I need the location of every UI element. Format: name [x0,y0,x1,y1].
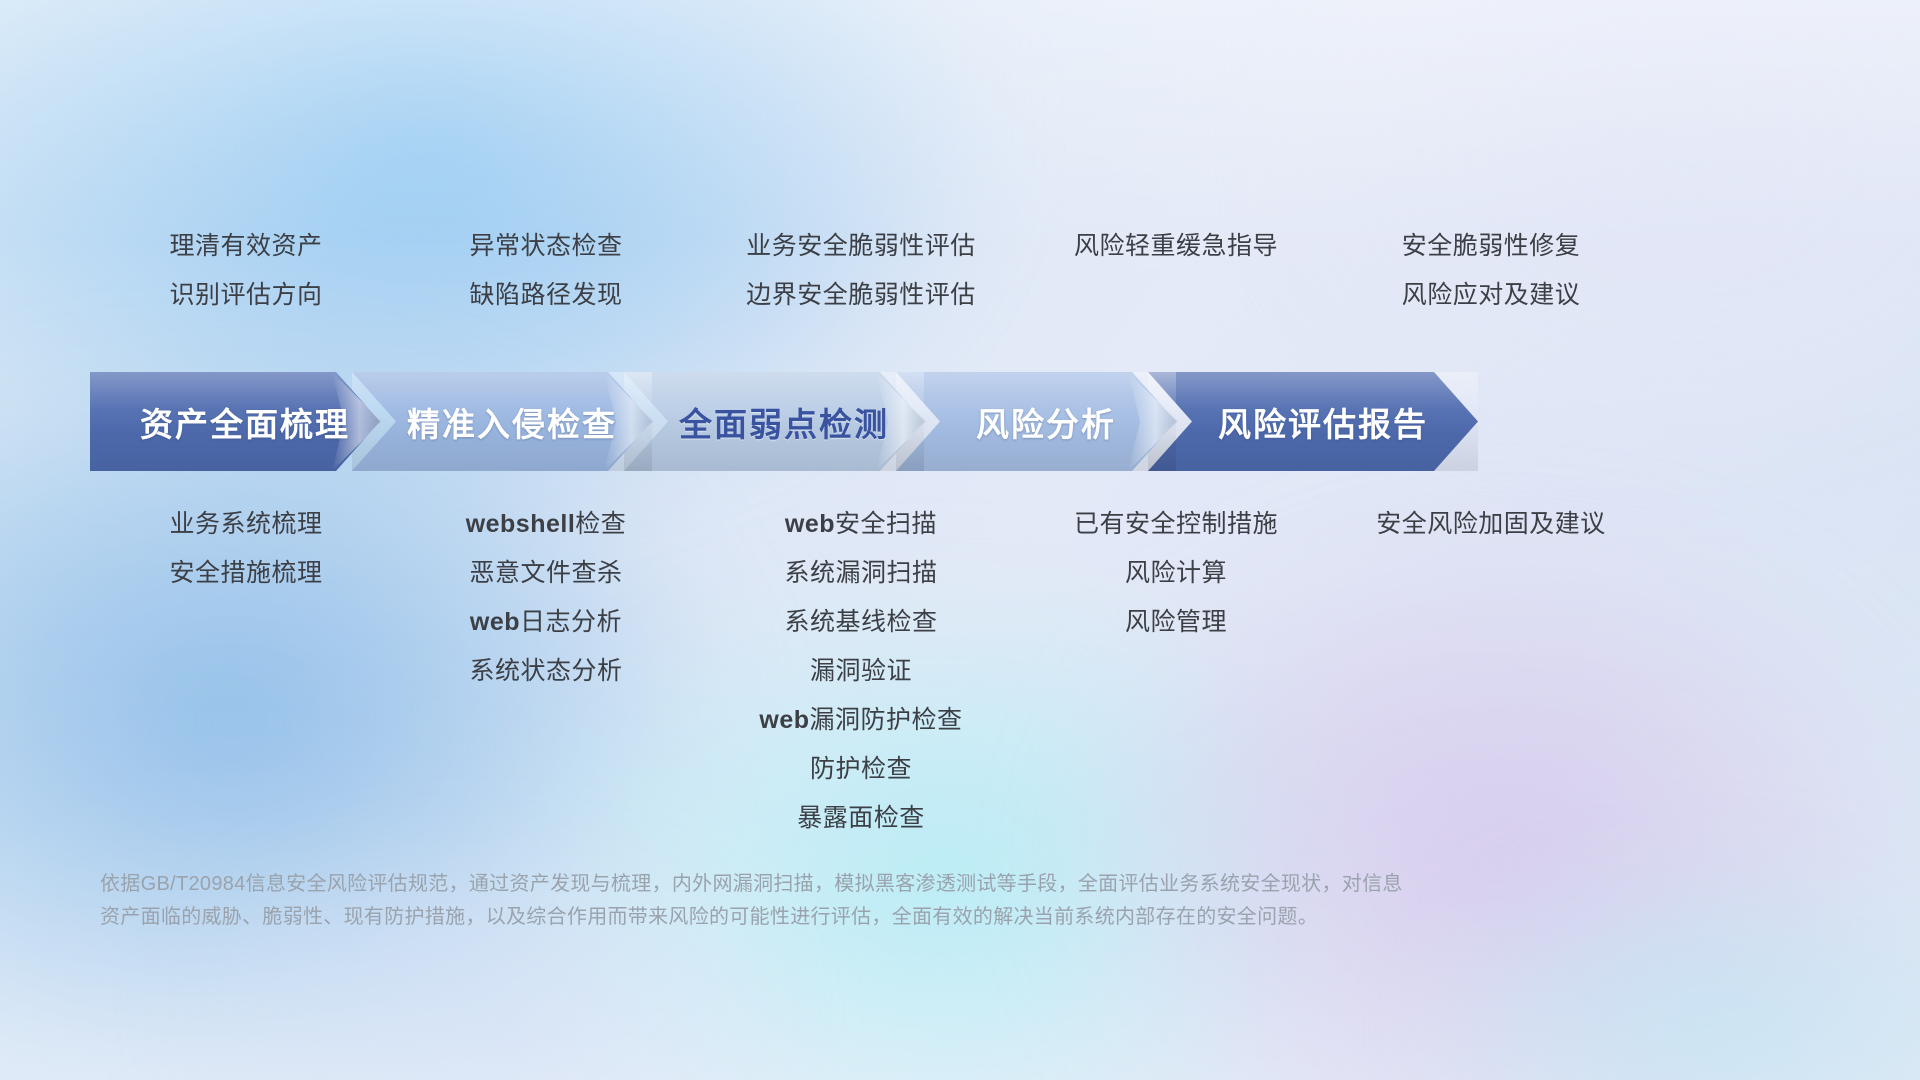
detail-list-intrusion-check: webshell检查恶意文件查杀web日志分析系统状态分析 [396,500,696,696]
detail-list-risk-report: 安全风险加固及建议 [1326,500,1656,549]
detail-item: 已有安全控制措施 [1074,500,1278,549]
chevron-risk-analysis[interactable]: 风险分析 [896,372,1176,471]
chevron-label: 全面弱点检测 [624,398,924,446]
detail-list-risk-analysis: 已有安全控制措施风险计算风险管理 [1026,500,1326,647]
chevron-weakness-detection[interactable]: 全面弱点检测 [624,372,924,471]
top-notes-risk-analysis: 风险轻重缓急指导 [1026,222,1326,320]
detail-item: 安全措施梳理 [169,549,322,598]
top-note: 风险应对及建议 [1402,271,1581,320]
top-note: 缺陷路径发现 [469,271,622,320]
process-infographic: 理清有效资产识别评估方向异常状态检查缺陷路径发现业务安全脆弱性评估边界安全脆弱性… [0,0,1920,1080]
top-note: 异常状态检查 [469,222,622,271]
top-note: 边界安全脆弱性评估 [746,271,976,320]
detail-item: web漏洞防护检查 [759,696,962,745]
top-note: 业务安全脆弱性评估 [746,222,976,271]
top-note: 识别评估方向 [169,271,322,320]
footer-line-1: 依据GB/T20984信息安全风险评估规范，通过资产发现与梳理，内外网漏洞扫描，… [100,868,1610,901]
detail-item: web安全扫描 [785,500,937,549]
detail-item: 系统状态分析 [469,647,622,696]
detail-item: 漏洞验证 [810,647,912,696]
detail-item: webshell检查 [466,500,627,549]
top-notes-intrusion-check: 异常状态检查缺陷路径发现 [396,222,696,320]
top-notes-asset-inventory: 理清有效资产识别评估方向 [96,222,396,320]
chevron-asset-inventory[interactable]: 资产全面梳理 [90,372,380,471]
stage-top-notes-row: 理清有效资产识别评估方向异常状态检查缺陷路径发现业务安全脆弱性评估边界安全脆弱性… [96,222,1860,320]
top-note: 风险轻重缓急指导 [1074,222,1278,271]
detail-list-weakness-detection: web安全扫描系统漏洞扫描系统基线检查漏洞验证web漏洞防护检查防护检查暴露面检… [696,500,1026,843]
chevron-label: 精准入侵检查 [352,398,652,446]
detail-item: web日志分析 [470,598,622,647]
top-note: 安全脆弱性修复 [1402,222,1581,271]
detail-item: 业务系统梳理 [169,500,322,549]
detail-item: 系统基线检查 [784,598,937,647]
chevron-intrusion-check[interactable]: 精准入侵检查 [352,372,652,471]
process-chevron-band: 资产全面梳理精准入侵检查全面弱点检测风险分析风险评估报告 [90,372,1892,471]
top-note: 理清有效资产 [169,222,322,271]
footer-line-2: 资产面临的威胁、脆弱性、现有防护措施，以及综合作用而带来风险的可能性进行评估，全… [100,901,1610,934]
chevron-label: 资产全面梳理 [90,398,380,446]
detail-item: 安全风险加固及建议 [1376,500,1606,549]
stage-detail-lists-row: 业务系统梳理安全措施梳理webshell检查恶意文件查杀web日志分析系统状态分… [96,500,1860,843]
detail-item: 防护检查 [810,745,912,794]
detail-item: 风险管理 [1125,598,1227,647]
detail-item: 风险计算 [1125,549,1227,598]
top-notes-risk-report: 安全脆弱性修复风险应对及建议 [1326,222,1656,320]
detail-item: 系统漏洞扫描 [784,549,937,598]
chevron-risk-report[interactable]: 风险评估报告 [1148,372,1478,471]
detail-item: 恶意文件查杀 [469,549,622,598]
footer-description: 依据GB/T20984信息安全风险评估规范，通过资产发现与梳理，内外网漏洞扫描，… [100,868,1610,934]
detail-list-asset-inventory: 业务系统梳理安全措施梳理 [96,500,396,598]
chevron-label: 风险评估报告 [1148,398,1478,446]
top-notes-weakness-detection: 业务安全脆弱性评估边界安全脆弱性评估 [696,222,1026,320]
detail-item: 暴露面检查 [797,794,925,843]
chevron-label: 风险分析 [896,398,1176,446]
